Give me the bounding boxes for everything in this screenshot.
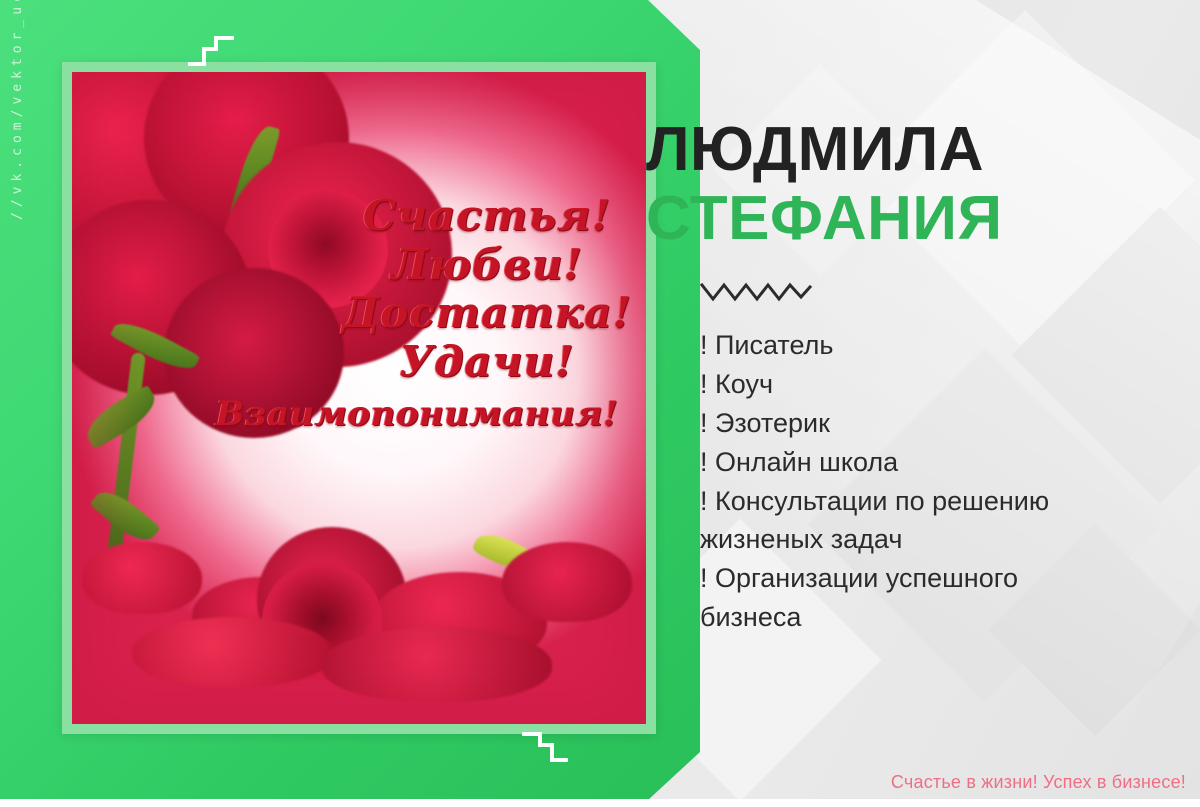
headline-first-name: ЛЮДМИЛА — [646, 118, 1186, 181]
watermark-url: //vk.com/vektor_ucpeha — [10, 0, 25, 220]
rose-photo: Счастья! Любви! Достатка! Удачи! Взаимоп… — [72, 72, 646, 724]
tagline: Счастье в жизни! Успех в бизнесе! — [891, 772, 1186, 793]
list-item: ! Коуч — [700, 365, 1170, 404]
list-item: ! Консультации по решению — [700, 482, 1170, 521]
photo-card: Счастья! Любви! Достатка! Удачи! Взаимоп… — [62, 62, 656, 734]
step-corner-mark-bottom-icon — [522, 732, 568, 762]
rose-petal — [132, 617, 332, 687]
zigzag-divider-icon — [700, 281, 812, 303]
list-item: жизненых задач — [700, 520, 1170, 559]
list-item: бизнеса — [700, 598, 1170, 637]
list-item: ! Эзотерик — [700, 404, 1170, 443]
rose-petal — [502, 542, 632, 622]
services-list: ! Писатель ! Коуч ! Эзотерик ! Онлайн шк… — [700, 326, 1170, 637]
rose-petal — [322, 627, 552, 702]
rose-petal — [82, 542, 202, 614]
bottom-white-strip — [0, 799, 1200, 807]
headline-second-name: СТЕФАНИЯ — [646, 187, 1186, 250]
list-item: ! Организации успешного — [700, 559, 1170, 598]
step-corner-mark-top-icon — [188, 36, 234, 66]
list-item: ! Онлайн школа — [700, 443, 1170, 482]
poster: //vk.com/vektor_ucpeha — [0, 0, 1200, 807]
list-item: ! Писатель — [700, 326, 1170, 365]
headline: ЛЮДМИЛА СТЕФАНИЯ — [646, 118, 1186, 250]
